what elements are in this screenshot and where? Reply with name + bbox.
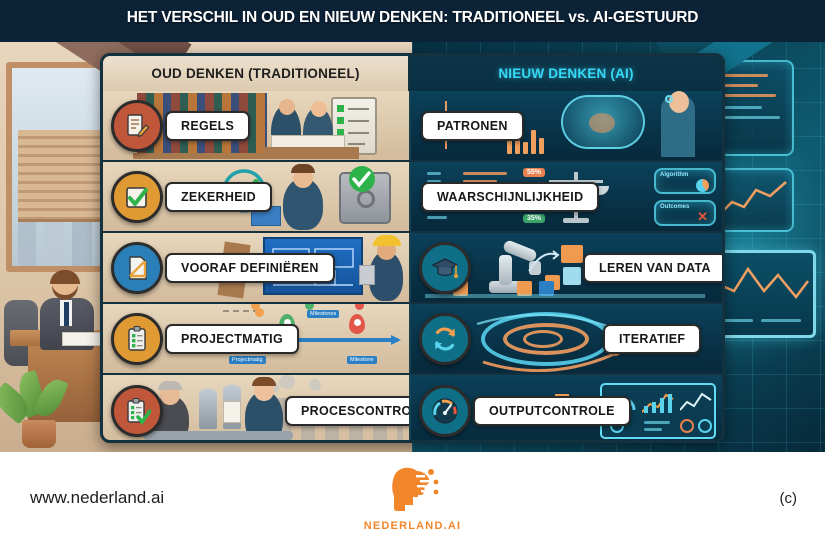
infographic-canvas: HET VERSCHIL IN OUD EN NIEUW DENKEN: TRA… xyxy=(0,0,825,542)
graduation-cap-icon xyxy=(419,242,471,294)
cell-old-zekerheid: ZEKERHEID xyxy=(103,162,411,231)
cell-new-outputcontrole: OUTPUTCONTROLE xyxy=(411,375,722,443)
timeline-tag-milestones: Milestones xyxy=(307,310,339,318)
clipboard-check-icon xyxy=(111,385,163,437)
document-pencil-icon xyxy=(111,100,163,152)
column-header-new: NIEUW DENKEN (AI) xyxy=(410,56,722,91)
table-row: Milestones Projectmatig Milestone xyxy=(103,304,722,375)
ai-head-profile-icon xyxy=(384,462,442,514)
label-outputcontrole: OUTPUTCONTROLE xyxy=(473,396,631,426)
table-row: REGELS xyxy=(103,91,722,162)
clipboard-checklist-icon xyxy=(111,313,163,365)
label-waarschijnlijkheid: WAARSCHIJNLIJKHEID xyxy=(421,182,599,212)
label-zekerheid: ZEKERHEID xyxy=(165,182,272,212)
timeline-tag-milestone: Milestone xyxy=(347,356,377,364)
label-regels: REGELS xyxy=(165,111,250,141)
plant-icon xyxy=(0,372,88,452)
website-url[interactable]: www.nederland.ai xyxy=(30,488,164,508)
page-title: HET VERSCHIL IN OUD EN NIEUW DENKEN: TRA… xyxy=(0,9,825,27)
refresh-cycle-icon xyxy=(419,313,471,365)
brand-logo: NEDERLAND.AI xyxy=(343,462,483,532)
blueprint-ruler-icon xyxy=(111,242,163,294)
cell-old-projectmatig: Milestones Projectmatig Milestone xyxy=(103,304,411,373)
checkbox-check-icon xyxy=(111,171,163,223)
timeline-tag-projectmatig: Projectmatig xyxy=(229,356,266,364)
cell-new-waarschijnlijkheid: 55% 35% Algorithm xyxy=(411,162,722,231)
table-row: ZEKERHEID 55% 35% xyxy=(103,162,722,233)
cell-new-iteratief: ITERATIEF xyxy=(411,304,722,373)
title-bar: HET VERSCHIL IN OUD EN NIEUW DENKEN: TRA… xyxy=(0,0,825,42)
label-procescontrole: PROCESCONTROLE xyxy=(285,396,411,426)
gauge-icon xyxy=(419,385,471,437)
label-projectmatig: PROJECTMATIG xyxy=(165,324,299,354)
table-row: PROCESCONTROLE xyxy=(103,375,722,443)
panel-label-outcomes: Outcomes xyxy=(660,204,689,210)
copyright-mark: (c) xyxy=(780,490,798,507)
column-header-old: OUD DENKEN (TRADITIONEEL) xyxy=(103,56,410,91)
comparison-table: OUD DENKEN (TRADITIONEEL) NIEUW DENKEN (… xyxy=(100,53,725,443)
cell-old-procescontrole: PROCESCONTROLE xyxy=(103,375,411,443)
label-vooraf-definieren: VOORAF DEFINIËREN xyxy=(165,253,335,283)
brand-name: NEDERLAND.AI xyxy=(343,520,483,532)
table-body: REGELS xyxy=(103,91,722,443)
label-leren-van-data: LEREN VAN DATA xyxy=(583,253,722,283)
label-patronen: PATRONEN xyxy=(421,111,524,141)
table-row: VOORAF DEFINIËREN xyxy=(103,233,722,304)
cell-old-regels: REGELS xyxy=(103,91,411,160)
cell-new-leren-van-data: LEREN VAN DATA xyxy=(411,233,722,302)
cell-new-patronen: PATRONEN xyxy=(411,91,722,160)
cell-old-vooraf-definieren: VOORAF DEFINIËREN xyxy=(103,233,411,302)
label-iteratief: ITERATIEF xyxy=(603,324,701,354)
table-header-row: OUD DENKEN (TRADITIONEEL) NIEUW DENKEN (… xyxy=(103,56,722,91)
footer: www.nederland.ai NEDERLAND.AI (c) xyxy=(0,452,825,542)
poster-area: HET VERSCHIL IN OUD EN NIEUW DENKEN: TRA… xyxy=(0,0,825,452)
panel-label-algorithm: Algorithm xyxy=(660,172,688,178)
